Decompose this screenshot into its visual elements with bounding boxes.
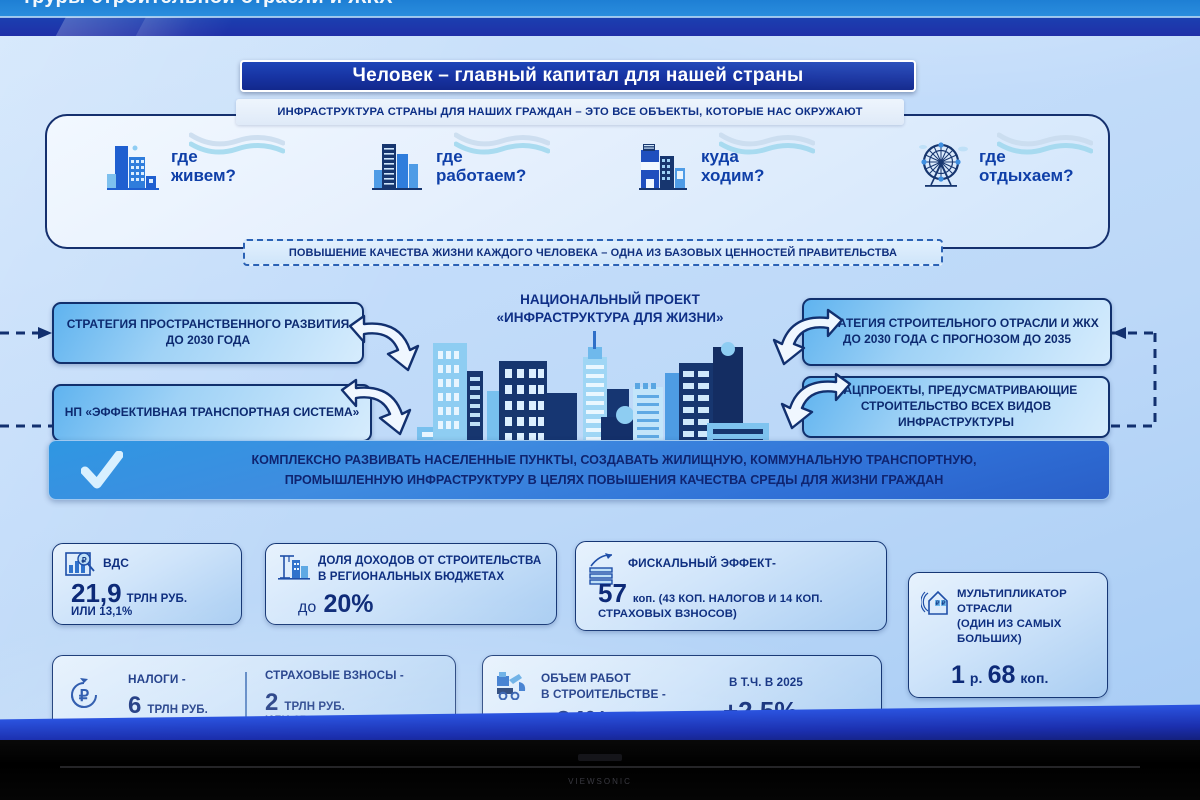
metric-fiscal-unit: коп. (43 КОП. НАЛОГОВ И 14 КОП. [633,593,823,605]
metric-taxes-unit: ТРЛН РУБ. [147,704,208,716]
broadcast-banner-text: труры строительной отрасли и ЖКХ [22,0,393,9]
svg-text:₽: ₽ [942,600,946,607]
slide-subtitle: ИНФРАСТРУКТУРА СТРАНЫ ДЛЯ НАШИХ ГРАЖДАН … [236,99,904,125]
ruble-chart-icon: ₽ [65,552,95,580]
q3-line1: куда [701,147,739,166]
metric-volume-sub-label: В Т.Ч. В 2025 [729,676,803,689]
metric-multiplier-rub-num: 1 [951,661,965,690]
excavator-icon [495,670,529,700]
svg-text:₽: ₽ [79,688,89,705]
strategic-task-text: КОМПЛЕКСНО РАЗВИВАТЬ НАСЕЛЕННЫЕ ПУНКТЫ, … [149,451,1079,490]
bezel-notch [578,754,622,761]
metric-multiplier-line3: (ОДИН ИЗ САМЫХ [957,617,1067,632]
metric-vds-value-row: 21,9 ТРЛН РУБ. [71,578,187,609]
q2-line2: работаем? [436,166,526,185]
metric-volume-line2: В СТРОИТЕЛЬСТВЕ - [541,686,666,702]
question-item-live: где живем? [107,140,236,192]
ruble-cycle-icon: ₽ [67,678,101,712]
box-national-projects-text: НАЦПРОЕКТЫ, ПРЕДУСМАТРИВАЮЩИЕ СТРОИТЕЛЬС… [814,383,1098,431]
infrastructure-panel: где живем? [45,114,1110,249]
values-bar-text: ПОВЫШЕНИЕ КАЧЕСТВА ЖИЗНИ КАЖДОГО ЧЕЛОВЕК… [289,247,897,259]
svg-text:₽: ₽ [936,600,940,607]
box-spatial-strategy-text: СТРАТЕГИЯ ПРОСТРАНСТВЕННОГО РАЗВИТИЯ ДО … [64,317,352,349]
metric-card-fiscal-effect[interactable]: ФИСКАЛЬНЫЙ ЭФФЕКТ- 57 коп. (43 КОП. НАЛО… [575,541,887,631]
national-project-title: НАЦИОНАЛЬНЫЙ ПРОЕКТ «ИНФРАСТРУКТУРА ДЛЯ … [440,291,780,326]
ferris-wheel-icon [915,140,971,192]
metric-volume-line1: ОБЪЕМ РАБОТ [541,670,666,686]
office-towers-icon [372,140,428,192]
monitor-photo: труры строительной отрасли и ЖКХ Человек… [0,0,1200,800]
bezel-seam [60,766,1140,768]
metric-card-multiplier[interactable]: ₽ ₽ МУЛЬТИПЛИКАТОР ОТРАСЛИ (ОДИН ИЗ САМЫ… [908,572,1108,698]
values-bar: ПОВЫШЕНИЕ КАЧЕСТВА ЖИЗНИ КАЖДОГО ЧЕЛОВЕК… [243,239,943,266]
metric-share-label-line1: ДОЛЯ ДОХОДОВ ОТ СТРОИТЕЛЬСТВА [318,553,541,569]
metric-share-label: ДОЛЯ ДОХОДОВ ОТ СТРОИТЕЛЬСТВА В РЕГИОНАЛ… [318,553,541,584]
metric-multiplier-line1: МУЛЬТИПЛИКАТОР [957,587,1067,602]
metric-vds-unit: ТРЛН РУБ. [127,593,188,605]
metric-vds-sub: ИЛИ 13,1% [71,606,132,618]
slide-title-text: Человек – главный капитал для нашей стра… [353,65,804,87]
metric-contrib-value: 2 [265,689,278,717]
check-icon [81,451,123,491]
box-transport-program[interactable]: НП «ЭФФЕКТИВНАЯ ТРАНСПОРТНАЯ СИСТЕМА» [52,384,372,442]
metric-share-prefix: до [298,599,316,617]
metric-contrib-value-row: 2 ТРЛН РУБ. [265,689,345,717]
metric-share-value-row: до 20% [298,590,373,619]
monitor-bezel: VIEWSONIC [0,740,1200,800]
metric-card-vds[interactable]: ₽ ВДС 21,9 ТРЛН РУБ. ИЛИ 13,1% [52,543,242,625]
metric-vds-label: ВДС [103,556,129,570]
box-construction-strategy-text: СТРАТЕГИЯ СТРОИТЕЛЬНОГО ОТРАСЛИ И ЖКХ ДО… [814,316,1100,348]
strategic-task-line1: КОМПЛЕКСНО РАЗВИВАТЬ НАСЕЛЕННЫЕ ПУНКТЫ, … [149,451,1079,471]
banner-slash-b [134,17,236,36]
house-ruble-icon: ₽ ₽ [921,587,951,617]
metric-multiplier-kop-unit: коп. [1020,670,1048,686]
question-icon-row: где живем? [47,140,1108,202]
metric-taxes-value: 6 [128,692,141,720]
metric-share-label-line2: В РЕГИОНАЛЬНЫХ БЮДЖЕТАХ [318,569,541,585]
national-project-line1: НАЦИОНАЛЬНЫЙ ПРОЕКТ [440,291,780,309]
metric-share-value: 20% [323,590,373,619]
metric-card-regional-share[interactable]: ДОЛЯ ДОХОДОВ ОТ СТРОИТЕЛЬСТВА В РЕГИОНАЛ… [265,543,557,625]
metric-volume-label: ОБЪЕМ РАБОТ В СТРОИТЕЛЬСТВЕ - [541,670,666,703]
question-label-rest: где отдыхаем? [979,147,1073,185]
q3-line2: ходим? [701,166,764,185]
metric-contrib-label: СТРАХОВЫЕ ВЗНОСЫ - [265,669,404,682]
question-item-work: где работаем? [372,140,526,192]
monitor-brand-label: VIEWSONIC [568,777,632,786]
metric-fiscal-value: 57 [598,578,627,609]
q1-line1: где [171,147,198,166]
residential-buildings-icon [107,140,163,192]
metric-fiscal-label: ФИСКАЛЬНЫЙ ЭФФЕКТ- [628,556,776,570]
q1-line2: живем? [171,166,236,185]
metric-multiplier-label: МУЛЬТИПЛИКАТОР ОТРАСЛИ (ОДИН ИЗ САМЫХ БО… [957,587,1067,647]
civic-buildings-icon [637,140,693,192]
strategic-task-line2: ПРОМЫШЛЕННУЮ ИНФРАСТРУКТУРУ В ЦЕЛЯХ ПОВЫ… [149,471,1079,491]
box-construction-strategy[interactable]: СТРАТЕГИЯ СТРОИТЕЛЬНОГО ОТРАСЛИ И ЖКХ ДО… [802,298,1112,366]
metric-multiplier-kop-num: 68 [988,661,1016,690]
slide-title: Человек – главный капитал для нашей стра… [240,60,916,92]
metric-multiplier-rub-unit: р. [970,670,983,686]
box-national-projects[interactable]: НАЦПРОЕКТЫ, ПРЕДУСМАТРИВАЮЩИЕ СТРОИТЕЛЬС… [802,376,1110,438]
metric-fiscal-sub: СТРАХОВЫХ ВЗНОСОВ) [598,608,737,620]
crane-construction-icon [278,552,310,580]
strategic-task-band: КОМПЛЕКСНО РАЗВИВАТЬ НАСЕЛЕННЫЕ ПУНКТЫ, … [48,440,1110,500]
svg-text:₽: ₽ [81,556,86,565]
metric-multiplier-line2: ОТРАСЛИ [957,602,1067,617]
metric-taxes-label: НАЛОГИ - [128,672,186,686]
q2-line1: где [436,147,463,166]
question-label-work: где работаем? [436,147,526,185]
metric-vds-value: 21,9 [71,578,122,609]
question-label-live: где живем? [171,147,236,185]
q4-line2: отдыхаем? [979,166,1073,185]
presentation-slide: Человек – главный капитал для нашей стра… [0,36,1200,728]
box-spatial-strategy[interactable]: СТРАТЕГИЯ ПРОСТРАНСТВЕННОГО РАЗВИТИЯ ДО … [52,302,364,364]
box-transport-program-text: НП «ЭФФЕКТИВНАЯ ТРАНСПОРТНАЯ СИСТЕМА» [65,405,360,421]
q4-line1: где [979,147,1006,166]
metric-multiplier-value-row: 1 р. 68 коп. [951,661,1049,690]
broadcast-banner: труры строительной отрасли и ЖКХ [0,0,1200,36]
question-item-rest: где отдыхаем? [915,140,1073,192]
national-project-line2: «ИНФРАСТРУКТУРА ДЛЯ ЖИЗНИ» [440,309,780,327]
metric-contrib-unit: ТРЛН РУБ. [284,701,345,713]
metric-taxes-value-row: 6 ТРЛН РУБ. [128,692,208,720]
question-label-go: куда ходим? [701,147,764,185]
question-item-go: куда ходим? [637,140,764,192]
metric-multiplier-line4: БОЛЬШИХ) [957,632,1067,647]
metric-fiscal-value-row: 57 коп. (43 КОП. НАЛОГОВ И 14 КОП. [598,578,823,609]
slide-subtitle-text: ИНФРАСТРУКТУРА СТРАНЫ ДЛЯ НАШИХ ГРАЖДАН … [277,106,862,118]
